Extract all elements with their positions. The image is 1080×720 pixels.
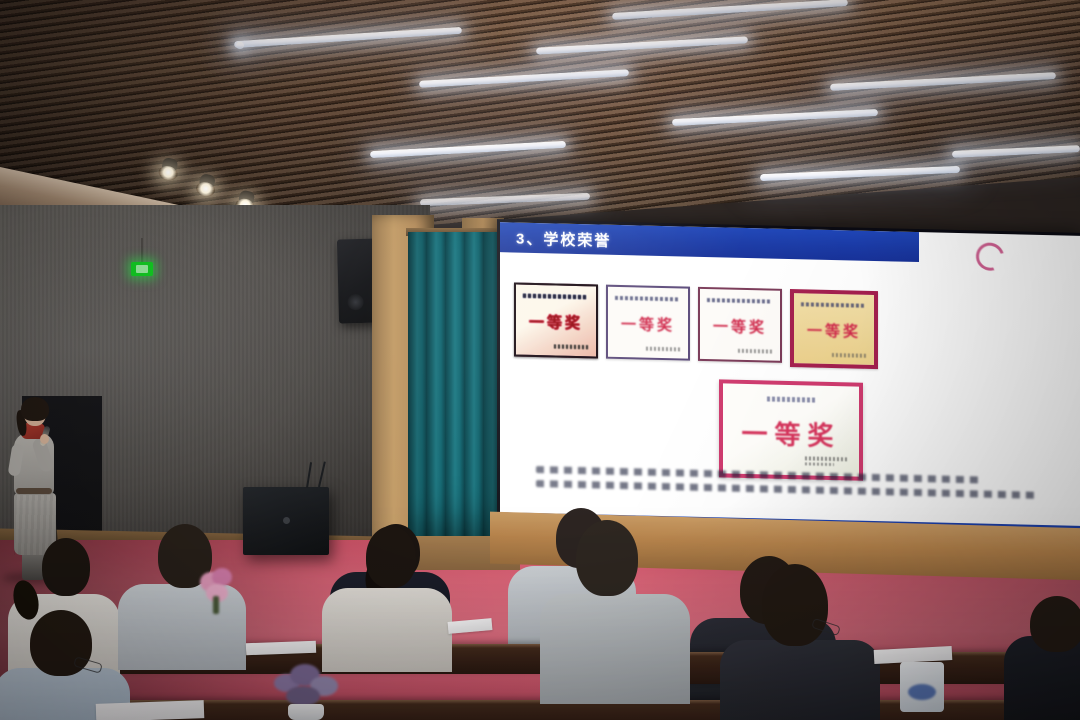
slide-body-text <box>536 466 1054 506</box>
tea-cup <box>524 700 554 720</box>
certificate-thumb: 一等奖 <box>790 289 878 369</box>
certificate-thumbnail-row: 一等奖 一等奖 一等奖 一等奖 <box>514 283 1080 374</box>
document-paper <box>96 700 205 720</box>
flower-arrangement <box>272 664 344 720</box>
document-paper <box>246 641 316 655</box>
water-bottle <box>297 580 312 634</box>
presentation-slide: 3、学校荣誉 一等奖 一等奖 一等奖 <box>500 222 1080 543</box>
certificate-award-text: 一等奖 <box>621 313 675 335</box>
audience-head <box>366 526 416 588</box>
tea-cup <box>228 678 258 706</box>
school-crest-logo <box>971 238 1009 276</box>
projection-screen: 3、学校荣誉 一等奖 一等奖 一等奖 <box>497 219 1080 551</box>
conference-hall-photo: 3、学校荣誉 一等奖 一等奖 一等奖 <box>0 0 1080 720</box>
tea-cup <box>428 692 458 720</box>
spotlight-icon-2 <box>195 173 219 197</box>
stage-curtain <box>408 232 504 554</box>
exit-sign-mount <box>141 238 143 264</box>
certificate-award-text: 一等奖 <box>807 319 861 341</box>
audience-member <box>720 564 880 720</box>
featured-certificate: 一等奖 <box>719 379 863 480</box>
slide-header-band: 3、学校荣誉 <box>500 222 919 262</box>
tea-cup <box>960 704 990 720</box>
water-bottle <box>691 692 706 720</box>
audience-torso <box>540 594 690 704</box>
certificate-thumb: 一等奖 <box>698 287 782 363</box>
tissue-box <box>900 662 944 712</box>
certificate-thumb: 一等奖 <box>606 285 690 361</box>
featured-certificate-award-text: 一等奖 <box>741 414 840 453</box>
audience-member <box>1004 596 1080 720</box>
certificate-award-text: 一等奖 <box>713 315 767 337</box>
ceiling-light-5 <box>236 42 244 49</box>
water-bottle <box>427 592 442 646</box>
audience-member <box>540 520 690 700</box>
spotlight-icon-1 <box>158 156 182 180</box>
emergency-exit-sign <box>131 262 153 276</box>
presenter-belt <box>16 488 52 494</box>
certificate-thumb: 一等奖 <box>514 283 598 359</box>
audience-head <box>42 538 90 596</box>
audience-head <box>576 520 638 596</box>
flower-arrangement <box>196 568 236 612</box>
audience-head <box>1030 596 1080 652</box>
water-bottle <box>212 634 227 688</box>
presenter-hand <box>40 434 49 444</box>
slide-title: 3、学校荣誉 <box>516 227 611 250</box>
certificate-award-text: 一等奖 <box>529 311 583 333</box>
water-bottle <box>404 648 419 702</box>
audience-head <box>762 564 828 646</box>
presenter-hair <box>21 397 49 421</box>
stage-monitor-speaker <box>243 487 329 555</box>
audience-torso <box>720 640 880 720</box>
